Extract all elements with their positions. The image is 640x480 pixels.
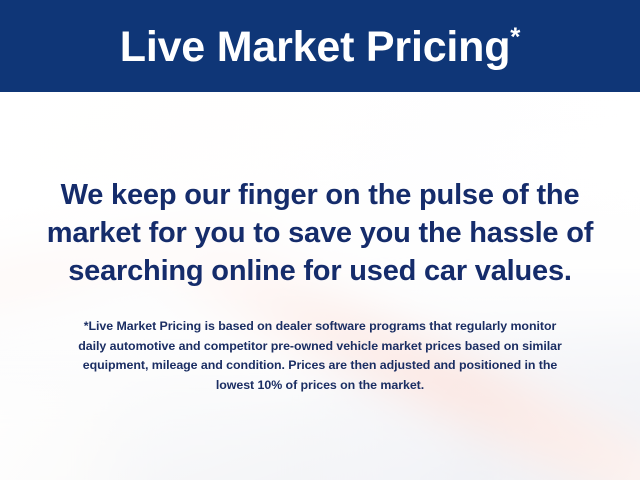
footnote-line-4: lowest 10% of prices on the market. xyxy=(0,376,640,396)
header-bar: Live Market Pricing* xyxy=(0,0,640,92)
page-title: Live Market Pricing* xyxy=(120,24,520,69)
headline-line-2: market for you to save you the hassle of xyxy=(0,214,640,252)
live-market-pricing-banner: Live Market Pricing* We keep our finger … xyxy=(0,0,640,480)
footnote-line-3: equipment, mileage and condition. Prices… xyxy=(0,356,640,376)
headline-block: We keep our finger on the pulse of the m… xyxy=(0,176,640,290)
footnote-line-1: *Live Market Pricing is based on dealer … xyxy=(0,317,640,337)
headline-line-1: We keep our finger on the pulse of the xyxy=(0,176,640,214)
page-title-asterisk: * xyxy=(510,21,520,51)
footnote-disclaimer: *Live Market Pricing is based on dealer … xyxy=(0,317,640,395)
headline-line-3: searching online for used car values. xyxy=(0,252,640,290)
footnote-line-2: daily automotive and competitor pre-owne… xyxy=(0,337,640,357)
page-title-text: Live Market Pricing xyxy=(120,23,511,71)
